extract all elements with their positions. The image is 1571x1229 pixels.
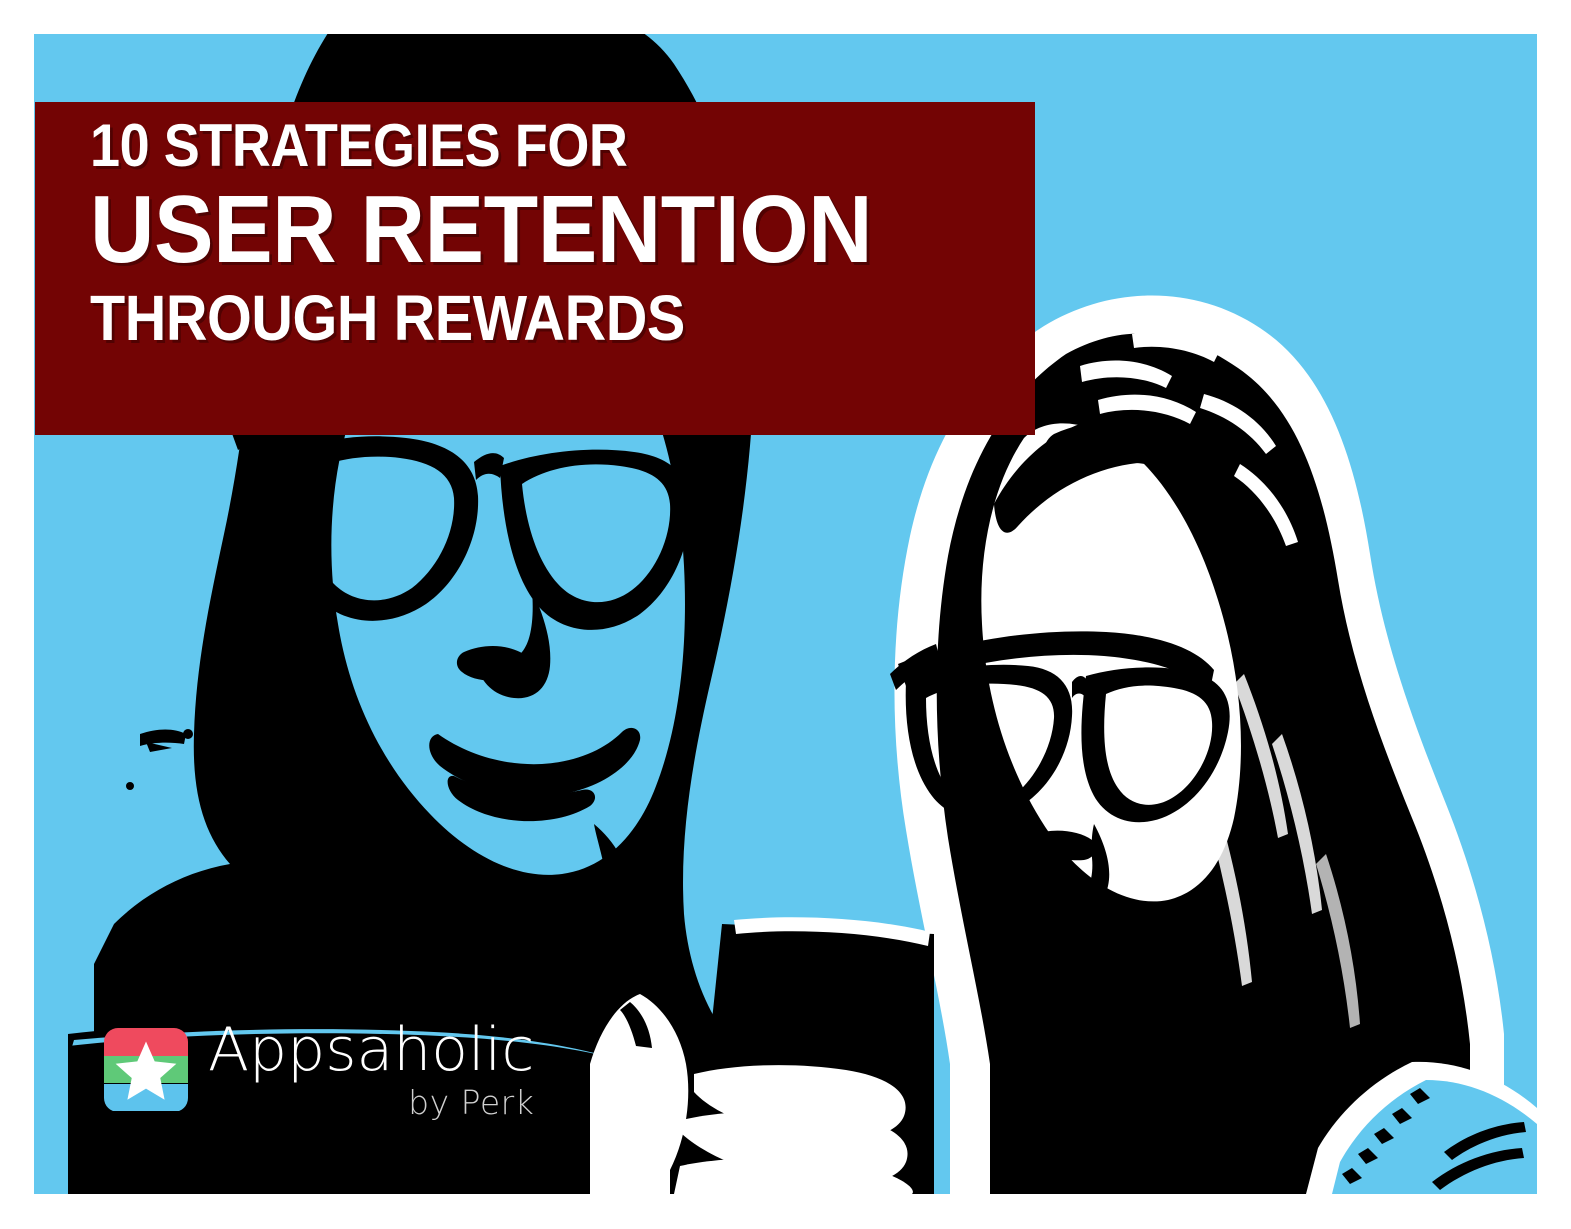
appsaholic-logo[interactable]: Appsaholic by Perk	[104, 1020, 534, 1119]
title-line-1: 10 Strategies For	[90, 116, 936, 176]
logo-wordmark: Appsaholic	[208, 1020, 534, 1080]
logo-subtext: by Perk	[408, 1086, 534, 1119]
slide-frame: 10 Strategies For User Retention Through…	[0, 0, 1571, 1229]
title-line-2: User Retention	[90, 182, 964, 278]
appsaholic-logo-mark	[104, 1028, 188, 1112]
appsaholic-logo-text: Appsaholic by Perk	[208, 1020, 534, 1119]
cover-title-block: 10 Strategies For User Retention Through…	[90, 116, 1030, 350]
star-icon	[115, 1039, 177, 1101]
cover-canvas: 10 Strategies For User Retention Through…	[34, 34, 1537, 1194]
title-line-3: Through Rewards	[90, 286, 936, 350]
